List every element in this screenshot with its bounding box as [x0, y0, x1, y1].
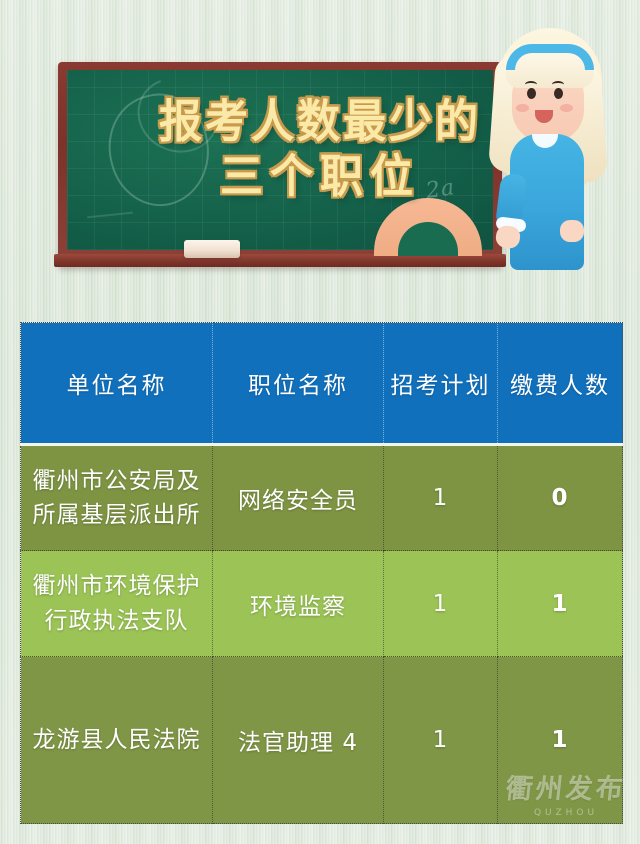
cell-plan: 1 — [384, 657, 498, 824]
cell-position: 环境监察 — [213, 551, 384, 657]
column-header-paid: 缴费人数 — [498, 323, 623, 445]
chalk-scribble-icon — [87, 212, 133, 219]
table-row: 衢州市公安局及 所属基层派出所 网络安全员 1 0 — [21, 445, 623, 551]
blackboard-frame: 2a — [58, 62, 502, 267]
headband-icon — [506, 44, 594, 70]
cell-plan: 1 — [384, 551, 498, 657]
hero-blackboard-section: 2a — [0, 0, 640, 312]
positions-table-container: 单位名称 职位名称 招考计划 缴费人数 衢州市公安局及 所属基层派出所 网络安全… — [20, 322, 622, 810]
cell-position: 法官助理 4 — [213, 657, 384, 824]
cell-plan: 1 — [384, 445, 498, 551]
cell-unit-line-1: 衢州市环境保护 — [27, 569, 206, 604]
cell-paid: 1 — [498, 657, 623, 824]
cell-unit: 龙游县人民法院 — [21, 657, 213, 824]
cell-unit: 衢州市公安局及 所属基层派出所 — [21, 445, 213, 551]
table-row: 衢州市环境保护 行政执法支队 环境监察 1 1 — [21, 551, 623, 657]
positions-table: 单位名称 职位名称 招考计划 缴费人数 衢州市公安局及 所属基层派出所 网络安全… — [20, 322, 623, 824]
chalk-eraser-icon — [184, 240, 240, 258]
cell-unit-line-2: 所属基层派出所 — [27, 498, 206, 533]
column-header-position: 职位名称 — [213, 323, 384, 445]
cell-paid: 1 — [498, 551, 623, 657]
cell-paid: 0 — [498, 445, 623, 551]
column-header-unit: 单位名称 — [21, 323, 213, 445]
cell-unit-line-2: 行政执法支队 — [27, 604, 206, 639]
table-body: 衢州市公安局及 所属基层派出所 网络安全员 1 0 衢州市环境保护 行政执法支队… — [21, 445, 623, 824]
table-row: 龙游县人民法院 法官助理 4 1 1 — [21, 657, 623, 824]
column-header-plan: 招考计划 — [384, 323, 498, 445]
girl-illustration — [488, 22, 614, 270]
table-header-row: 单位名称 职位名称 招考计划 缴费人数 — [21, 323, 623, 445]
cell-unit: 衢州市环境保护 行政执法支队 — [21, 551, 213, 657]
cell-position: 网络安全员 — [213, 445, 384, 551]
cell-unit-line-1: 衢州市公安局及 — [27, 464, 206, 499]
poster-page: 2a — [0, 0, 640, 844]
table-header: 单位名称 职位名称 招考计划 缴费人数 — [21, 323, 623, 445]
protractor-icon — [374, 198, 482, 256]
